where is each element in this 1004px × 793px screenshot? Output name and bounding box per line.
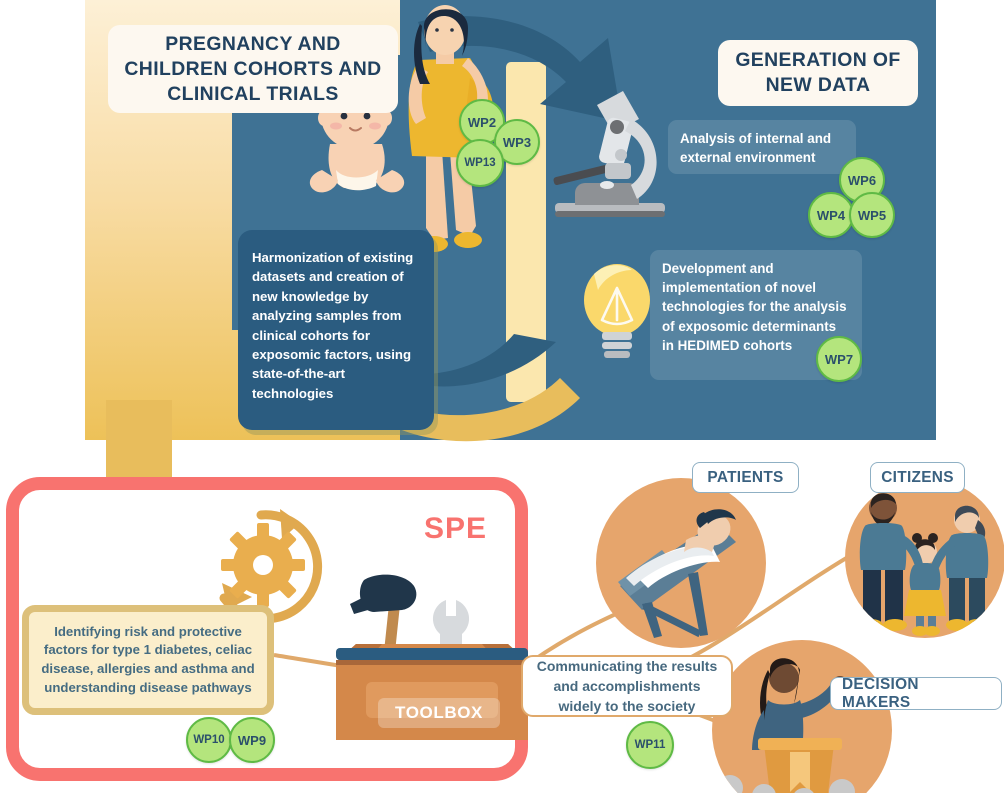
card-identifying-risk-text: Identifying risk and protective factors … — [36, 623, 260, 697]
infographic-canvas: PREGNANCY AND CHILDREN COHORTS AND CLINI… — [0, 0, 1004, 793]
toolbox-label: TOOLBOX — [378, 698, 500, 728]
title-left-text: PREGNANCY AND CHILDREN COHORTS AND CLINI… — [108, 32, 398, 107]
citizens-circle-illustration — [845, 478, 1004, 638]
wp-bubble-wp11[interactable]: WP11 — [626, 721, 674, 769]
wp-bubble-wp13[interactable]: WP13 — [456, 139, 504, 187]
wp-bubble-wp4[interactable]: WP4 — [808, 192, 854, 238]
toolbox-icon — [322, 570, 542, 760]
info-development-text: Development and implementation of novel … — [662, 261, 847, 353]
wp-bubble-wp10[interactable]: WP10 — [186, 717, 232, 763]
wp-bubble-wp5[interactable]: WP5 — [849, 192, 895, 238]
card-harmonization: Harmonization of existing datasets and c… — [238, 230, 434, 430]
microscope-icon — [545, 85, 675, 225]
info-analysis-text: Analysis of internal and external enviro… — [680, 131, 831, 165]
tag-decision-makers: DECISION MAKERS — [830, 677, 1002, 710]
tag-patients: PATIENTS — [692, 462, 799, 493]
card-communicating-results: Communicating the results and accomplish… — [521, 655, 733, 717]
info-analysis-environment: Analysis of internal and external enviro… — [668, 120, 856, 174]
page-title-generation-new-data: GENERATION OF NEW DATA — [718, 40, 918, 106]
wp-bubble-wp9[interactable]: WP9 — [229, 717, 275, 763]
tag-citizens: CITIZENS — [870, 462, 965, 493]
page-title-pregnancy-cohorts: PREGNANCY AND CHILDREN COHORTS AND CLINI… — [108, 25, 398, 113]
card-harmonization-text: Harmonization of existing datasets and c… — [252, 250, 413, 401]
lightbulb-icon — [574, 258, 660, 370]
card-identifying-risk: Identifying risk and protective factors … — [22, 605, 274, 715]
patients-circle-illustration — [596, 478, 766, 648]
family-illustration — [845, 478, 1004, 638]
patient-in-bed-illustration — [596, 478, 766, 648]
wp-bubble-wp7[interactable]: WP7 — [816, 336, 862, 382]
title-right-text: GENERATION OF NEW DATA — [718, 48, 918, 98]
card-communicating-results-text: Communicating the results and accomplish… — [531, 656, 723, 716]
